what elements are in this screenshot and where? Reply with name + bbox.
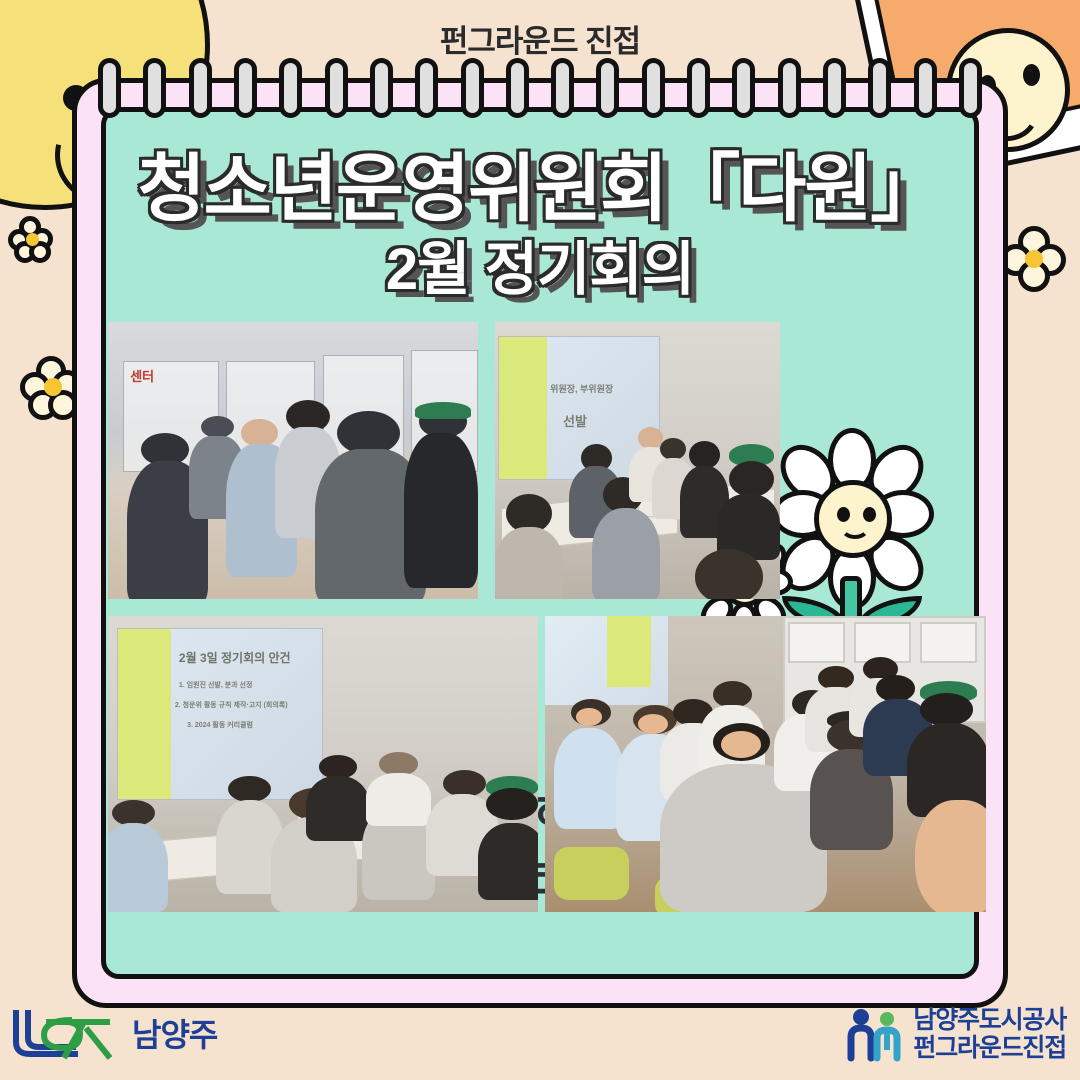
mini-flower-left-upper-icon <box>10 218 54 262</box>
corporation-name-line2: 펀그라운드진접 <box>913 1034 1066 1062</box>
flower-petal <box>19 216 41 238</box>
photo-scene: 위원장, 부위원장 선발 <box>495 322 780 599</box>
binder-rings <box>72 58 1008 118</box>
binder-ring <box>732 58 755 118</box>
flower-center <box>1025 250 1043 268</box>
photo-scene: 2월 3일 정기회의 안건 1. 임원진 선발, 분과 선정 2. 청운위 활동… <box>108 616 538 912</box>
photo-sign-text: 센터 <box>130 366 154 385</box>
photo-presentation-selection: 위원장, 부위원장 선발 <box>495 322 780 599</box>
binder-ring <box>461 58 484 118</box>
projector-screen: 2월 3일 정기회의 안건 1. 임원진 선발, 분과 선정 2. 청운위 활동… <box>117 628 323 800</box>
namyangju-city-mark <box>6 1002 124 1064</box>
flower-petal <box>31 228 53 250</box>
photo-regular-meeting: 2월 3일 정기회의 안건 1. 임원진 선발, 분과 선정 2. 청운위 활동… <box>108 616 538 912</box>
corporation-logo: 남양주도시공사 펀그라운드진접 <box>847 1006 1066 1062</box>
binder-ring <box>370 58 393 118</box>
city-logo-text: 남양주 <box>132 1010 217 1056</box>
binder-ring <box>234 58 257 118</box>
flower-petal <box>29 241 51 263</box>
flower-center <box>44 378 62 396</box>
screen-agenda-3: 3. 2024 활동 커리큘럼 <box>187 720 253 730</box>
screen-agenda-2: 2. 청운위 활동 규칙 제작·고지 (회의록) <box>175 700 288 710</box>
photo-scene <box>545 616 986 912</box>
corporation-name-line1: 남양주도시공사 <box>913 1006 1066 1034</box>
binder-ring <box>687 58 710 118</box>
smiley-eye-right <box>1023 64 1040 86</box>
binder-ring <box>959 58 982 118</box>
binder-ring <box>189 58 212 118</box>
flower-petal <box>1034 244 1066 276</box>
binder-ring <box>914 58 937 118</box>
binder-ring <box>415 58 438 118</box>
binder-ring <box>642 58 665 118</box>
photo-lobby-students: 센터 <box>108 322 478 599</box>
photo-scene: 센터 <box>108 322 478 599</box>
corporation-logo-text: 남양주도시공사 펀그라운드진접 <box>913 1006 1066 1062</box>
flower-petal <box>1018 260 1050 292</box>
screen-title-text: 위원장, 부위원장 <box>550 382 613 395</box>
funground-figure-mark <box>847 1006 905 1062</box>
flower-petal <box>1018 226 1050 258</box>
binder-ring <box>551 58 574 118</box>
binder-ring <box>325 58 348 118</box>
binder-ring <box>506 58 529 118</box>
photo-grid: 센터 위원장, 부위원장 선발 <box>108 322 986 912</box>
screen-agenda-1: 1. 임원진 선발, 분과 선정 <box>179 680 253 690</box>
page-subtitle: 2월 정기회의 <box>106 238 974 302</box>
title-block: 청소년운영위원회「다원」 2월 정기회의 <box>106 150 974 302</box>
binder-ring <box>778 58 801 118</box>
binder-ring <box>279 58 302 118</box>
flower-center <box>26 233 39 246</box>
binder-ring <box>596 58 619 118</box>
flower-petal <box>14 241 36 263</box>
mini-flower-right-icon <box>1002 228 1064 290</box>
binder-ring <box>143 58 166 118</box>
flower-petal <box>28 390 58 420</box>
binder-ring <box>98 58 121 118</box>
page-title: 청소년운영위원회「다원」 <box>106 150 974 228</box>
city-logo: 남양주 <box>6 1002 217 1064</box>
page-top-label: 펀그라운드 진접 <box>0 16 1080 61</box>
screen-title-text: 2월 3일 정기회의 안건 <box>179 649 291 666</box>
flower-petal <box>20 372 50 402</box>
screen-keyword-text: 선발 <box>563 411 587 430</box>
photo-group-selfie <box>545 616 986 912</box>
binder-ring <box>868 58 891 118</box>
binder-ring <box>823 58 846 118</box>
flower-petal <box>8 229 30 251</box>
flower-petal <box>36 356 66 386</box>
